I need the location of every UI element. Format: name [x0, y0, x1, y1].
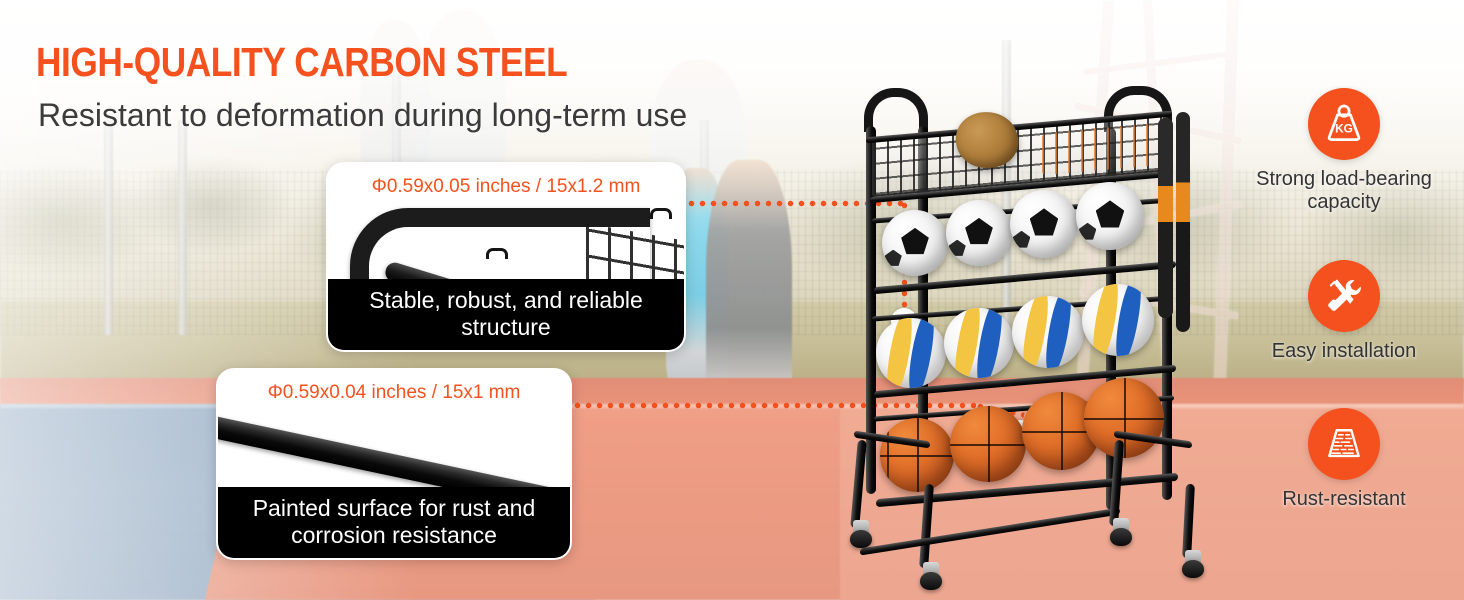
soccer-ball: [946, 200, 1012, 266]
rack-handle-left: [864, 88, 928, 132]
volleyball: [944, 308, 1014, 378]
basketball: [1084, 378, 1164, 458]
callout-rod-tube: Φ0.59x0.04 inches / 15x1 mm Painted surf…: [216, 368, 572, 560]
baseball-bat: [1176, 112, 1190, 332]
callout-frame-tube-caption: Stable, robust, and reliable structure: [328, 279, 684, 350]
tube-clip: [486, 248, 508, 259]
volleyball: [876, 318, 946, 388]
feature-rust-resistant-label: Rust-resistant: [1224, 488, 1464, 511]
callout-rod-tube-caption: Painted surface for rust and corrosion r…: [218, 487, 570, 558]
soccer-ball: [1076, 182, 1144, 250]
callout-rod-tube-spec: Φ0.59x0.04 inches / 15x1 mm: [218, 382, 570, 404]
callout-frame-tube: Φ0.59x0.05 inches / 15x1.2 mm Stable, ro…: [326, 162, 686, 352]
tube-clip: [650, 208, 672, 219]
brushed-surface-icon: [1308, 408, 1380, 480]
kg-weight-icon: KG: [1308, 88, 1380, 160]
base-leg-front-right: [1182, 484, 1195, 558]
caster-wheel: [1180, 550, 1206, 578]
volleyball: [1012, 296, 1084, 368]
baseball-bat: [1158, 118, 1173, 318]
page-headline: HIGH-QUALITY CARBON STEEL: [36, 42, 567, 83]
caster-wheel: [848, 520, 874, 548]
product-ball-storage-rack: [836, 88, 1226, 568]
soccer-ball: [1010, 190, 1078, 258]
feature-rust-resistant[interactable]: Rust-resistant: [1224, 408, 1464, 511]
basketball: [880, 418, 954, 492]
page-subheadline: Resistant to deformation during long-ter…: [38, 98, 687, 133]
svg-text:KG: KG: [1335, 121, 1353, 135]
marketing-banner: HIGH-QUALITY CARBON STEEL Resistant to d…: [0, 0, 1464, 600]
caster-wheel: [918, 562, 944, 590]
base-rail-bottom: [860, 507, 1120, 555]
caster-wheel: [1108, 518, 1134, 546]
wrench-screwdriver-icon: [1308, 260, 1380, 332]
feature-easy-installation[interactable]: Easy installation: [1224, 260, 1464, 363]
feature-easy-installation-label: Easy installation: [1224, 340, 1464, 363]
soccer-ball: [882, 210, 948, 276]
base-leg-rear-left: [850, 440, 867, 528]
feature-load-bearing[interactable]: KG Strong load-bearing capacity: [1224, 88, 1464, 214]
feature-load-bearing-label: Strong load-bearing capacity: [1224, 168, 1464, 214]
basketball: [950, 406, 1026, 482]
volleyball: [1082, 284, 1154, 356]
callout-frame-tube-spec: Φ0.59x0.05 inches / 15x1.2 mm: [328, 176, 684, 198]
